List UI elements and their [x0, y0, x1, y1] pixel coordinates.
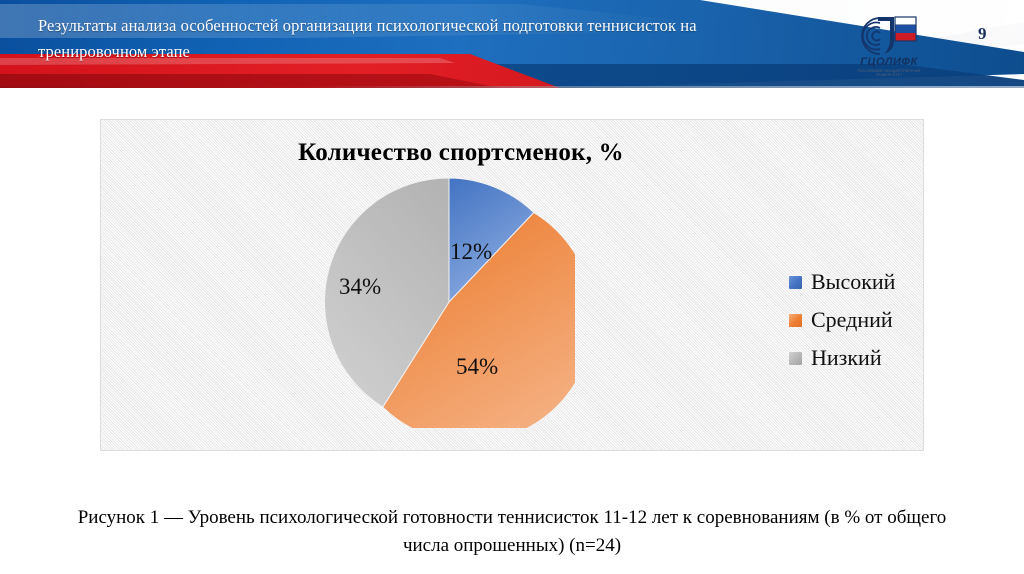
- logo-wordmark: ГЦОЛИФК: [854, 56, 924, 68]
- chart-title: Количество спортсменок, %: [101, 139, 821, 167]
- figure-caption: Рисунок 1 — Уровень психологической гото…: [70, 504, 954, 560]
- pie-label-low: 34%: [339, 274, 381, 300]
- legend-item-mid: Средний: [789, 301, 925, 339]
- slide-header: Результаты анализа особенностей организа…: [0, 0, 1024, 88]
- logo-subtext: РОССИЙСКИЙ ГОСУДАРСТВЕННЫЙ УНИВЕРСИТЕТ: [854, 69, 924, 77]
- page-number: 9: [978, 24, 987, 44]
- legend-label-high: Высокий: [811, 269, 895, 295]
- legend-swatch-low-icon: [789, 352, 802, 365]
- university-logo: ГЦОЛИФК РОССИЙСКИЙ ГОСУДАРСТВЕННЫЙ УНИВЕ…: [854, 8, 924, 78]
- chart-panel: Количество спортсменок, %: [100, 119, 924, 451]
- chart-legend: Высокий Средний Низкий: [789, 263, 925, 377]
- legend-label-low: Низкий: [811, 345, 882, 371]
- legend-item-high: Высокий: [789, 263, 925, 301]
- pie-chart: [323, 176, 575, 428]
- legend-item-low: Низкий: [789, 339, 925, 377]
- header-bottom-edge: [0, 86, 1024, 88]
- pie-label-high: 12%: [450, 239, 492, 265]
- legend-label-mid: Средний: [811, 307, 893, 333]
- legend-swatch-mid-icon: [789, 314, 802, 327]
- slide-title: Результаты анализа особенностей организа…: [38, 13, 738, 65]
- legend-swatch-high-icon: [789, 276, 802, 289]
- pie-label-mid: 54%: [456, 354, 498, 380]
